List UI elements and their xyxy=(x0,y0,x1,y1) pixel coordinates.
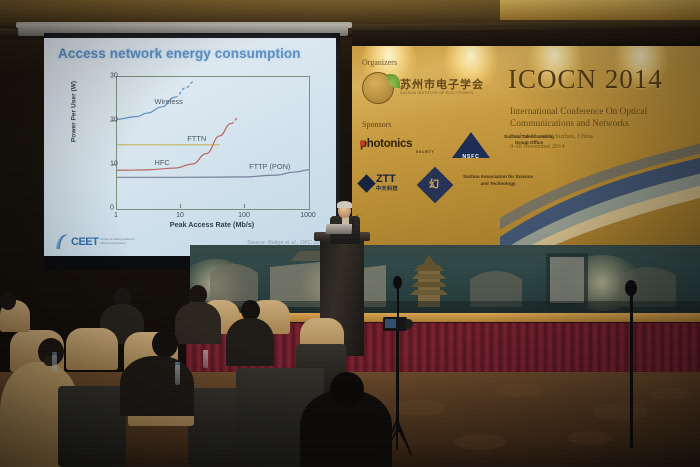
audience-head xyxy=(330,372,364,406)
sponsors-label: Sponsors xyxy=(362,120,391,129)
podium-microphone-icon xyxy=(352,214,365,228)
camera-lens-icon xyxy=(404,319,413,329)
series-label-hfc: HFC xyxy=(155,158,170,167)
x-tick-label: 1 xyxy=(114,212,118,219)
suzhou-assoc-logo-icon: 幻 xyxy=(417,167,454,204)
sponsor-nsfc-label: NSFC xyxy=(452,154,490,160)
ceet-swoosh-icon xyxy=(56,233,69,250)
chair-back xyxy=(58,386,126,467)
audience-person xyxy=(226,318,274,366)
chart-plot-area xyxy=(116,76,310,210)
y-tick-mark xyxy=(112,120,116,121)
sponsor-photonics: photonics SOCIETY xyxy=(360,138,412,150)
x-tick-label: 100 xyxy=(238,212,250,219)
organizer-name-en: SUZHOU INSTITUTE OF ELECTRONICS xyxy=(400,91,474,95)
chair xyxy=(66,328,118,370)
sponsor-photonics-label: photonics xyxy=(360,138,412,150)
sponsor-ztt: ZTT 中天科技 xyxy=(360,174,398,192)
camera-tripod-column xyxy=(396,331,398,423)
audience-person xyxy=(120,356,194,416)
organizer-name-cn: 苏州市电子学会 xyxy=(400,76,484,92)
microphone-stand xyxy=(630,288,633,448)
projection-screen: Access network energy consumption Power … xyxy=(44,33,340,270)
podium-laptop xyxy=(325,224,352,234)
audience-head xyxy=(0,292,16,310)
audience-head xyxy=(152,330,178,358)
chart-curves xyxy=(117,77,309,209)
energy-chart: Power Per User (W) Peak Access Rate (Mb/… xyxy=(58,68,322,228)
x-tick-mark xyxy=(244,204,245,208)
slide-title: Access network energy consumption xyxy=(58,46,301,61)
bottle-cap xyxy=(52,352,57,355)
chart-line-hfc xyxy=(117,124,231,171)
organizers-label: Organizers xyxy=(362,58,397,67)
microphone-head-icon xyxy=(393,276,402,289)
ceet-tagline: Centre for Energy-Efficient Telecommunic… xyxy=(100,238,140,245)
series-label-fttn: FTTN xyxy=(187,134,206,143)
sponsor-ztt-label: ZTT xyxy=(376,174,398,185)
ceet-wordmark: CEET xyxy=(71,236,98,248)
conference-photo: Access network energy consumption Power … xyxy=(0,0,700,467)
x-tick-label: 1000 xyxy=(300,212,316,219)
water-bottle xyxy=(203,350,208,368)
series-label-fttp-pon-: FTTP (PON) xyxy=(249,162,290,171)
presenter-hair xyxy=(337,201,352,208)
y-axis-label: Power Per User (W) xyxy=(71,52,78,172)
banner-title: ICOCN 2014 xyxy=(508,64,663,95)
ceiling-light-glow xyxy=(500,0,700,20)
suzhou-assoc-glyph: 幻 xyxy=(429,176,439,191)
x-axis-label: Peak Access Rate (Mb/s) xyxy=(116,220,308,229)
chart-line-dashed xyxy=(175,81,194,97)
ztt-diamond-icon xyxy=(357,174,375,192)
ceet-logo: CEET Centre for Energy-Efficient Telecom… xyxy=(56,233,140,250)
tripod-leg xyxy=(396,420,398,450)
conference-banner: Organizers 苏州市电子学会 SUZHOU INSTITUTE OF E… xyxy=(352,46,700,268)
presentation-slide: Access network energy consumption Power … xyxy=(44,38,336,256)
x-tick-mark xyxy=(180,204,181,208)
microphone-head-icon xyxy=(625,280,637,296)
sponsor-ztt-sub: 中天科技 xyxy=(376,185,398,192)
sponsor-nsfc: NSFC xyxy=(452,132,490,164)
chart-line-dashed xyxy=(231,117,239,123)
audience-person xyxy=(175,302,221,344)
x-tick-label: 10 xyxy=(176,212,184,219)
bottle-cap xyxy=(175,362,180,365)
water-bottle xyxy=(52,355,57,372)
y-tick-mark xyxy=(112,164,116,165)
sponsor-photonics-sub: SOCIETY xyxy=(416,150,434,154)
photonics-dot-icon xyxy=(360,141,365,146)
water-bottle xyxy=(175,365,180,385)
series-label-wireless: Wireless xyxy=(155,97,183,106)
camera-lcd-screen xyxy=(385,319,396,328)
